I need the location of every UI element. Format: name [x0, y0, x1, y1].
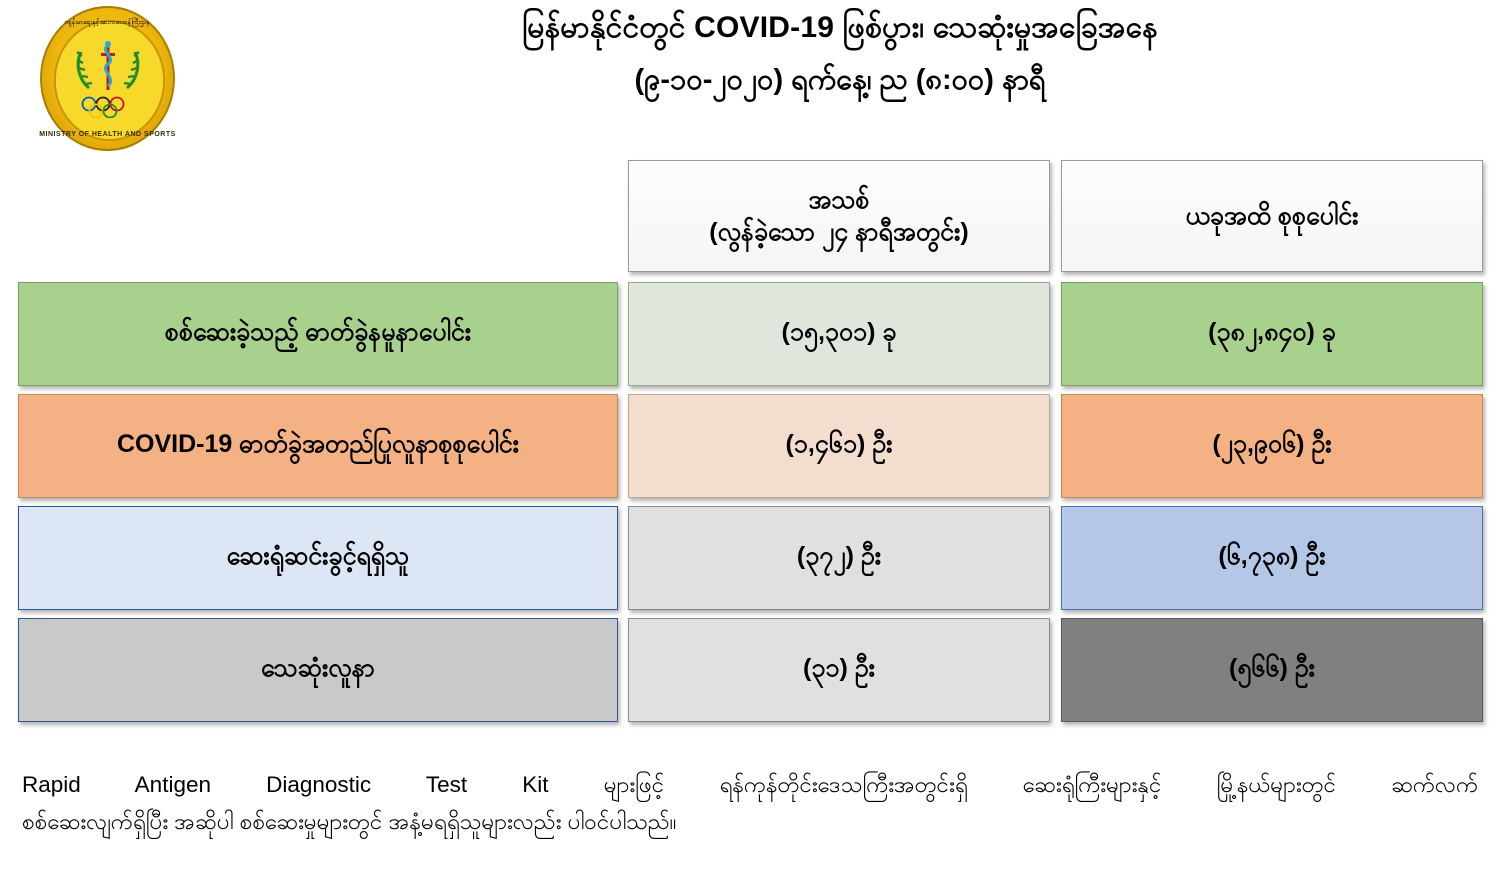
covid-summary-table: အသစ် (လွန်ခဲ့သော ၂၄ နာရီအတွင်း) ယခုအထိ စ… — [0, 160, 1500, 730]
title-block: မြန်မာနိုင်ငံတွင် COVID-19 ဖြစ်ပွား၊ သေဆ… — [200, 8, 1480, 100]
row-new-tests-conducted: (၁၅,၃၀၁) ခု — [628, 282, 1050, 386]
column-header-new: အသစ် (လွန်ခဲ့သော ၂၄ နာရီအတွင်း) — [628, 160, 1050, 272]
footer-note: Rapid Antigen Diagnostic Test Kit များဖြ… — [22, 766, 1478, 840]
footer-note-line1: Rapid Antigen Diagnostic Test Kit များဖြ… — [22, 766, 1478, 803]
column-header-total-line1: ယခုအထိ စုစုပေါင်း — [1186, 200, 1359, 233]
seal-text-top: ကျန်းမာရေးနှင့်အားကစားဝန်ကြီးဌာန — [35, 18, 180, 27]
page-header: ကျန်းမာရေးနှင့်အားကစားဝန်ကြီးဌာန MINISTR… — [0, 0, 1500, 152]
table-row: COVID-19 ဓာတ်ခွဲအတည်ပြုလူနာစုစုပေါင်း (၁… — [0, 394, 1500, 498]
page-title: မြန်မာနိုင်ငံတွင် COVID-19 ဖြစ်ပွား၊ သေဆ… — [200, 8, 1480, 49]
row-total-tests-conducted: (၃၈၂,၈၄၀) ခု — [1061, 282, 1483, 386]
row-label-deaths: သေဆုံးလူနာ — [18, 618, 618, 722]
table-row: ဆေးရုံဆင်းခွင့်ရရှိသူ (၃၇၂) ဦး (၆,၇၃၈) ဦ… — [0, 506, 1500, 610]
table-header-row: အသစ် (လွန်ခဲ့သော ၂၄ နာရီအတွင်း) ယခုအထိ စ… — [0, 160, 1500, 272]
row-total-confirmed-cases: (၂၃,၉၀၆) ဦး — [1061, 394, 1483, 498]
footer-note-line2: စစ်ဆေးလျက်ရှိပြီး အဆိုပါ စစ်ဆေးမှုများတွ… — [22, 803, 1478, 840]
row-new-confirmed-cases: (၁,၄၆၁) ဦး — [628, 394, 1050, 498]
column-header-new-line2: (လွန်ခဲ့သော ၂၄ နာရီအတွင်း) — [709, 216, 968, 249]
row-label-discharged: ဆေးရုံဆင်းခွင့်ရရှိသူ — [18, 506, 618, 610]
table-row: စစ်ဆေးခဲ့သည့် ဓာတ်ခွဲနမူနာပေါင်း (၁၅,၃၀၁… — [0, 282, 1500, 386]
table-row: သေဆုံးလူနာ (၃၁) ဦး (၅၆၆) ဦး — [0, 618, 1500, 722]
row-new-discharged: (၃၇၂) ဦး — [628, 506, 1050, 610]
row-total-deaths: (၅၆၆) ဦး — [1061, 618, 1483, 722]
caduceus-and-laurel-icon — [73, 40, 143, 96]
column-header-total: ယခုအထိ စုစုပေါင်း — [1061, 160, 1483, 272]
column-header-new-line1: အသစ် — [709, 184, 968, 217]
header-corner-spacer — [18, 160, 618, 272]
ministry-seal-logo: ကျန်းမာရေးနှင့်အားကစားဝန်ကြီးဌာန MINISTR… — [35, 6, 180, 151]
olympic-rings-icon — [79, 96, 137, 118]
row-total-discharged: (၆,၇၃၈) ဦး — [1061, 506, 1483, 610]
page-subtitle-datetime: (၉-၁၀-၂၀၂၀) ရက်နေ့၊ ည (၈:၀၀) နာရီ — [200, 61, 1480, 100]
seal-text-bottom: MINISTRY OF HEALTH AND SPORTS — [35, 131, 180, 138]
row-label-tests-conducted: စစ်ဆေးခဲ့သည့် ဓာတ်ခွဲနမူနာပေါင်း — [18, 282, 618, 386]
row-label-confirmed-cases: COVID-19 ဓာတ်ခွဲအတည်ပြုလူနာစုစုပေါင်း — [18, 394, 618, 498]
row-new-deaths: (၃၁) ဦး — [628, 618, 1050, 722]
